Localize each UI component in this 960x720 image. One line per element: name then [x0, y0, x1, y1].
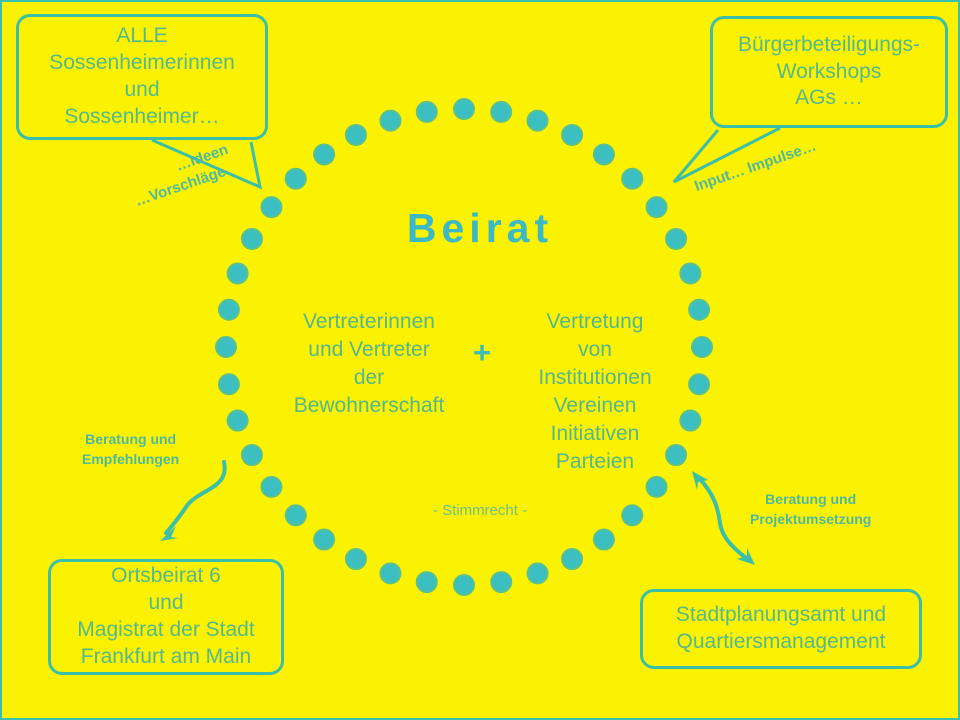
bubble-line: Frankfurt am Main — [81, 644, 251, 671]
ring-dot — [454, 575, 474, 595]
ring-dot — [380, 111, 400, 131]
column-line: Bewohnerschaft — [279, 392, 459, 420]
column-line: von — [505, 336, 685, 364]
ring-dot — [417, 102, 437, 122]
label-line: Beratung und — [750, 489, 871, 509]
ring-dot — [219, 300, 239, 320]
label-line: Empfehlungen — [82, 449, 179, 469]
beirat-composition: Vertreterinnen und Vertreter der Bewohne… — [252, 308, 712, 476]
column-institutionen: Vertretung von Institutionen Vereinen In… — [505, 308, 685, 476]
ring-dot — [286, 169, 306, 189]
ring-dot — [228, 263, 248, 283]
label-line: Projektumsetzung — [750, 509, 871, 529]
plus-icon: + — [459, 308, 505, 377]
ring-dot — [594, 144, 614, 164]
ring-dot — [528, 111, 548, 131]
ring-dot — [219, 374, 239, 394]
ring-dot — [346, 549, 366, 569]
label-ideen-vorschlaege: …Ideen …Vorschläge — [126, 140, 238, 212]
bubble-line: und — [124, 77, 159, 104]
ring-dot — [454, 99, 474, 119]
ring-dot — [491, 572, 511, 592]
bubble-buergerbeteiligung[interactable]: Bürgerbeteiligungs- Workshops AGs … — [710, 16, 948, 128]
column-line: Vertreterinnen — [279, 308, 459, 336]
ring-dot — [314, 144, 334, 164]
ring-dot — [228, 411, 248, 431]
label-line: Input… — [692, 162, 746, 195]
ring-dot — [680, 263, 700, 283]
ring-dot — [647, 477, 667, 497]
ring-dot — [528, 563, 548, 583]
column-bewohnerschaft: Vertreterinnen und Vertreter der Bewohne… — [279, 308, 459, 420]
bubble-line: ALLE — [116, 23, 167, 50]
diagram-title: Beirat — [2, 205, 958, 252]
column-line: und Vertreter — [279, 336, 459, 364]
ring-dot — [261, 477, 281, 497]
ring-dot — [346, 125, 366, 145]
ring-dot — [622, 169, 642, 189]
ring-dot — [562, 549, 582, 569]
bubble-line: Workshops — [777, 59, 882, 86]
ring-dot — [594, 530, 614, 550]
diagram-canvas: ALLE Sossenheimerinnen und Sossenheimer…… — [0, 0, 960, 720]
column-line: Institutionen — [505, 364, 685, 392]
label-beratung-projektumsetzung: Beratung und Projektumsetzung — [750, 489, 871, 530]
bubble-line: Sossenheimerinnen — [49, 50, 235, 77]
bubble-ortsbeirat-magistrat[interactable]: Ortsbeirat 6 und Magistrat der Stadt Fra… — [48, 559, 284, 675]
label-line: Impulse… — [745, 137, 818, 176]
ring-dot — [216, 337, 236, 357]
bubble-line: Bürgerbeteiligungs- — [738, 32, 920, 59]
bubble-line: Quartiersmanagement — [677, 629, 886, 656]
ring-dot — [562, 125, 582, 145]
bubble-line: AGs … — [795, 85, 863, 112]
ring-dot — [491, 102, 511, 122]
ring-dot — [314, 530, 334, 550]
label-line: Beratung und — [82, 429, 179, 449]
column-line: Vereinen — [505, 392, 685, 420]
label-beratung-empfehlungen: Beratung und Empfehlungen — [82, 429, 179, 470]
bubble-line: Stadtplanungsamt und — [676, 602, 886, 629]
bubble-stadtplanungsamt-quartiersmanagement[interactable]: Stadtplanungsamt und Quartiersmanagement — [640, 589, 922, 669]
bubble-line: und — [148, 590, 183, 617]
bubble-alle-sossenheimer[interactable]: ALLE Sossenheimerinnen und Sossenheimer… — [16, 14, 268, 140]
bubble-line: Sossenheimer… — [64, 104, 219, 131]
bubble-line: Magistrat der Stadt — [77, 617, 254, 644]
column-line: Parteien — [505, 448, 685, 476]
bubble-line: Ortsbeirat 6 — [111, 563, 221, 590]
ring-dot — [380, 563, 400, 583]
ring-dot — [417, 572, 437, 592]
column-line: Initiativen — [505, 420, 685, 448]
column-line: Vertretung — [505, 308, 685, 336]
column-line: der — [279, 364, 459, 392]
label-input-impulse: Input… Impulse… — [692, 136, 819, 197]
